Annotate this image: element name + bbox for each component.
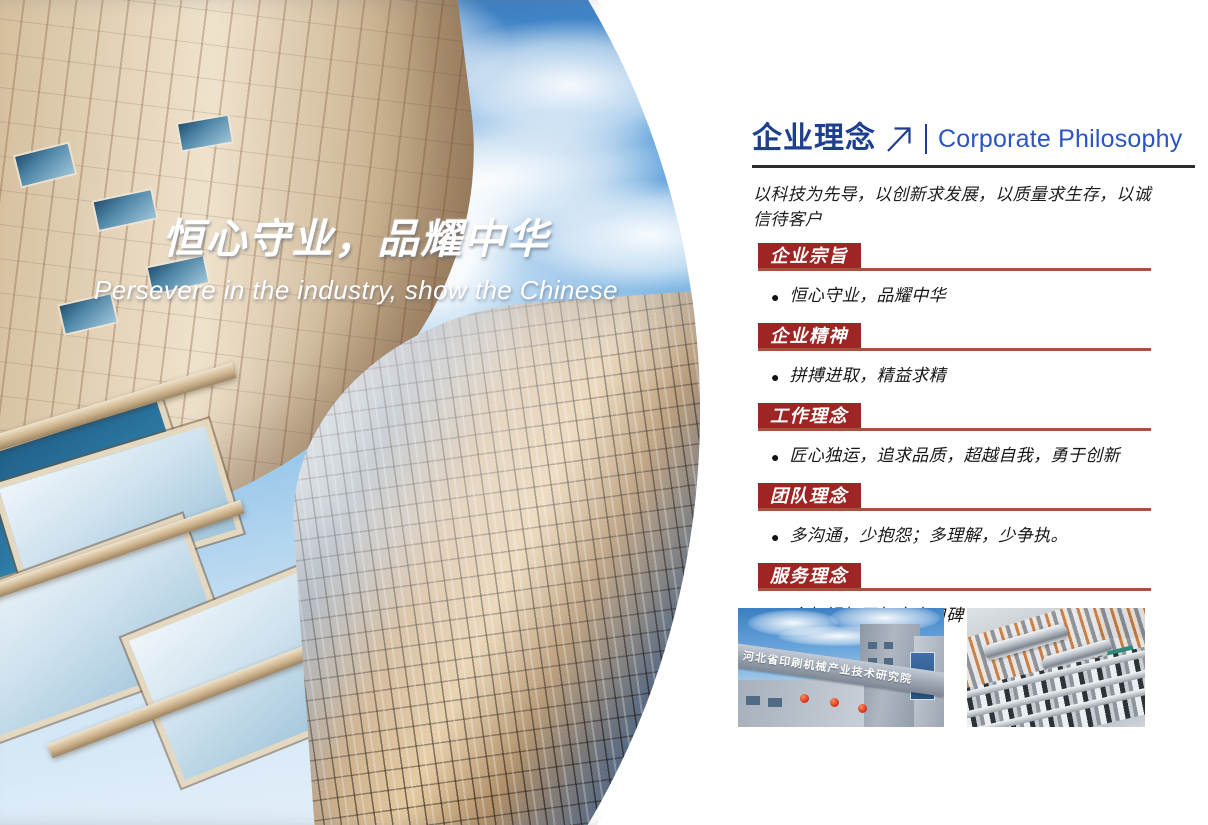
section-text: 匠心独运，追求品质，超越自我，勇于创新 [789, 445, 1120, 468]
section-tag: 团队理念 [758, 483, 861, 509]
hero-text-block: 恒心守业，品耀中华 Persevere in the industry, sho… [0, 205, 712, 306]
section-rule [758, 348, 1151, 351]
bullet-icon: ● [771, 365, 779, 388]
page-title-rule [752, 165, 1195, 168]
intro-paragraph: 以科技为先导，以创新求发展，以质量求生存，以诚信待客户 [753, 183, 1153, 232]
section-text: 多沟通，少抱怨；多理解，少争执。 [789, 525, 1067, 548]
photo-printing-machine [967, 608, 1145, 727]
bullet-icon: ● [771, 285, 779, 308]
philosophy-section: 企业精神 ● 拼搏进取，精益求精 [753, 323, 1196, 399]
hero-headline-cn: 恒心守业，品耀中华 [0, 205, 712, 265]
hero-image: 恒心守业，品耀中华 Persevere in the industry, sho… [0, 0, 742, 825]
section-header: 工作理念 [753, 403, 1196, 432]
photo-strip: 河北省印刷机械产业技术研究院 [738, 608, 1148, 728]
photo-window [768, 698, 782, 707]
page-title-en: Corporate Philosophy [938, 127, 1182, 152]
section-tag: 工作理念 [758, 403, 861, 429]
section-body: ● 恒心守业，品耀中华 [753, 272, 1196, 319]
section-header: 服务理念 [753, 563, 1196, 592]
section-tag: 服务理念 [758, 563, 861, 589]
page-title-cn: 企业理念 [752, 124, 876, 154]
lantern-icon [800, 694, 809, 703]
section-header: 团队理念 [753, 483, 1196, 512]
section-rule [758, 268, 1151, 271]
section-body: ● 匠心独运，追求品质，超越自我，勇于创新 [753, 432, 1196, 479]
section-rule [758, 428, 1151, 431]
bullet-icon: ● [771, 445, 779, 468]
philosophy-section: 企业宗旨 ● 恒心守业，品耀中华 [753, 243, 1196, 319]
philosophy-sections: 企业宗旨 ● 恒心守业，品耀中华 企业精神 ● 拼搏进取，精益求精 工作理念 [753, 243, 1196, 643]
section-rule [758, 508, 1151, 511]
section-body: ● 多沟通，少抱怨；多理解，少争执。 [753, 512, 1196, 559]
photo-window [868, 642, 877, 649]
section-header: 企业精神 [753, 323, 1196, 352]
lantern-icon [830, 698, 839, 707]
philosophy-section: 工作理念 ● 匠心独运，追求品质，超越自我，勇于创新 [753, 403, 1196, 479]
section-rule [758, 588, 1151, 591]
photo-research-institute: 河北省印刷机械产业技术研究院 [738, 608, 944, 727]
photo-window [884, 642, 893, 649]
section-body: ● 拼搏进取，精益求精 [753, 352, 1196, 399]
lantern-icon [858, 704, 867, 713]
section-text: 恒心守业，品耀中华 [789, 285, 946, 308]
section-header: 企业宗旨 [753, 243, 1196, 272]
photo-window [746, 696, 760, 705]
page-title: 企业理念 Corporate Philosophy [752, 122, 1182, 156]
section-tag: 企业精神 [758, 323, 861, 349]
philosophy-section: 团队理念 ● 多沟通，少抱怨；多理解，少争执。 [753, 483, 1196, 559]
title-divider [925, 124, 927, 154]
section-text: 拼搏进取，精益求精 [789, 365, 946, 388]
bullet-icon: ● [771, 525, 779, 548]
hero-clip [0, 0, 742, 825]
arrow-up-right-icon [882, 122, 916, 156]
hero-headline-en: Persevere in the industry, show the Chin… [0, 275, 712, 306]
section-tag: 企业宗旨 [758, 243, 861, 269]
